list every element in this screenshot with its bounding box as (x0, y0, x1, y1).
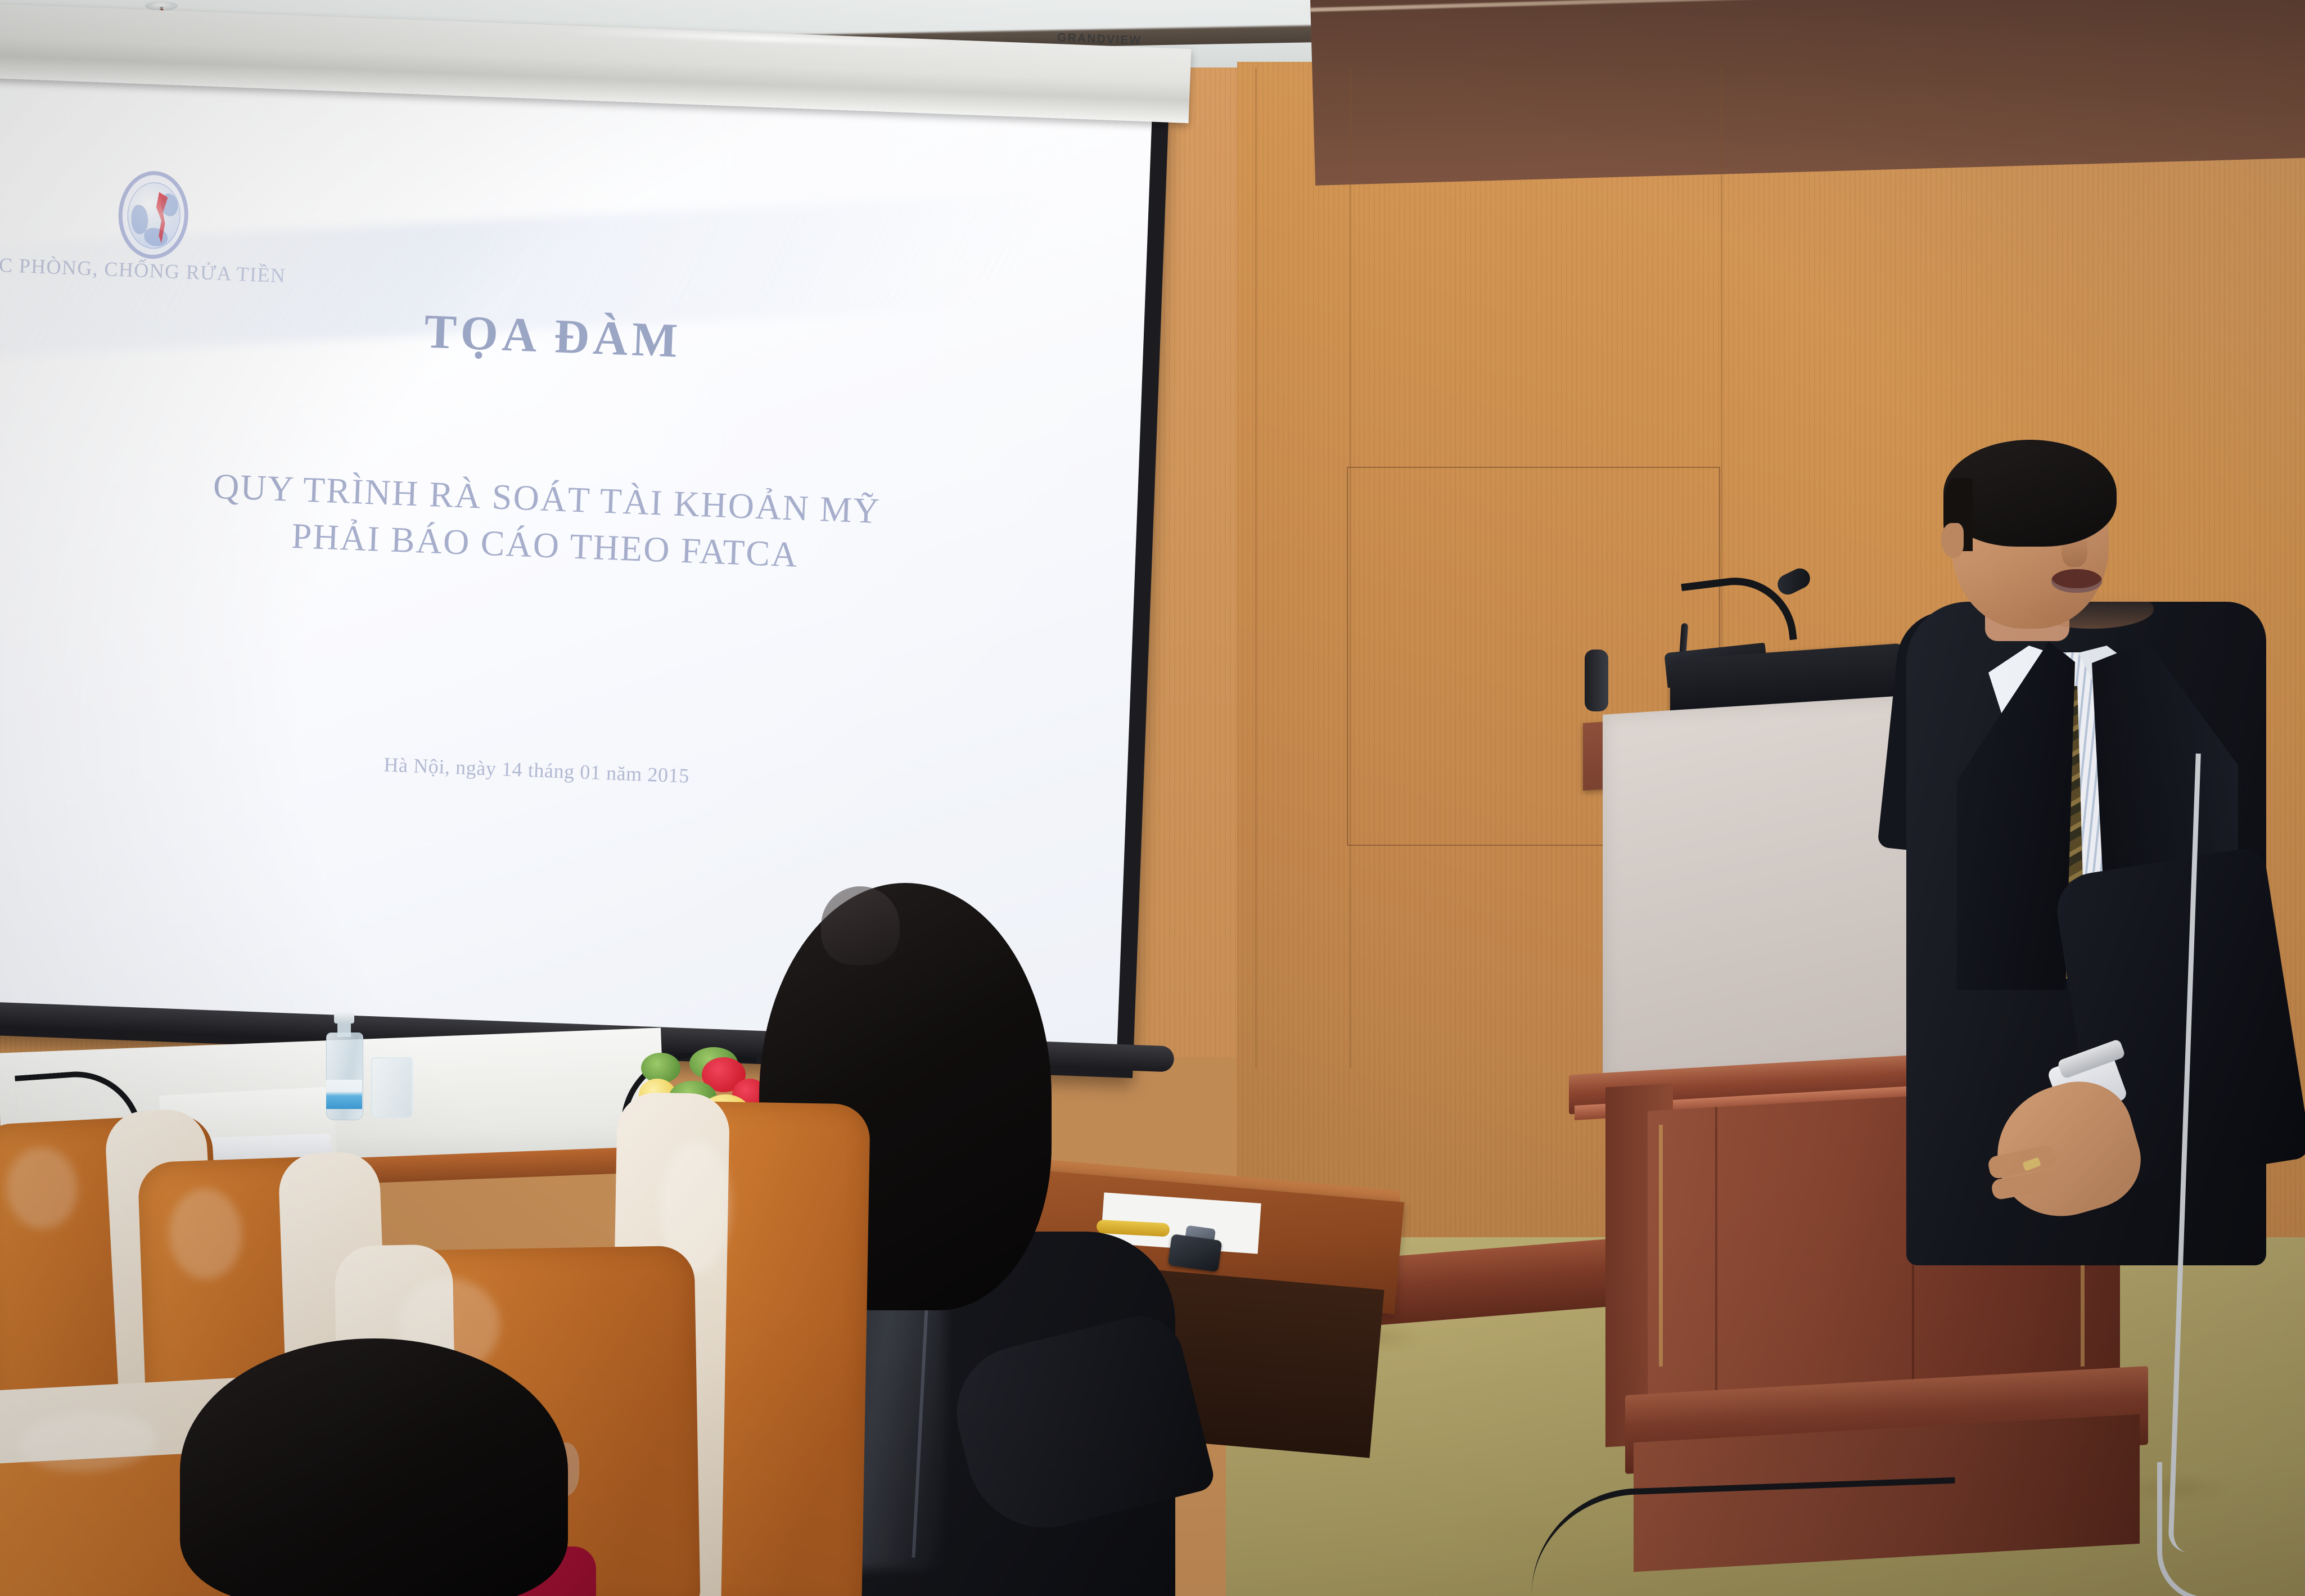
bottled-water (326, 1012, 362, 1119)
wall-upper-band (1310, 0, 2305, 186)
photo-scene: CỤC PHÒNG, CHỐNG RỬA TIỀN TỌA ĐÀM QUY TR… (0, 0, 2305, 1596)
lectern-knob (1585, 650, 1608, 711)
vietnam-globe-emblem-icon (117, 170, 190, 260)
seated-person-foreground (112, 1338, 596, 1596)
drinking-glass (371, 1057, 413, 1118)
audience-hair (180, 1338, 568, 1596)
presenter-figure (1889, 444, 2305, 1322)
